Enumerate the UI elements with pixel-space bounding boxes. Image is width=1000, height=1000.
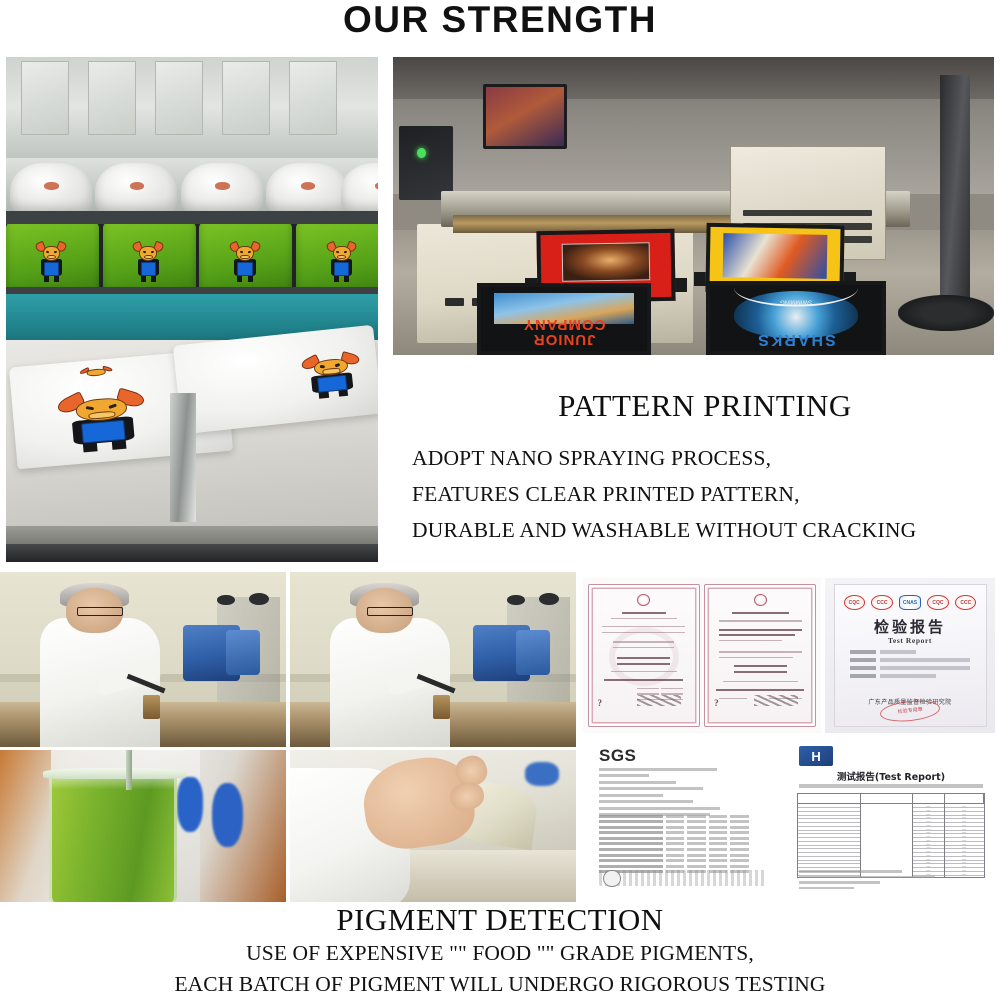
green-pallet [199, 222, 292, 296]
inspection-report-title-cn: 检验报告 [835, 616, 986, 637]
support-pillar [940, 75, 970, 307]
white-shirt [10, 163, 92, 214]
photo-uv-flatbed-printer: JUNIOR COMPANY SWIMMING SHARKS [393, 57, 994, 355]
wall-panel [155, 61, 203, 134]
wall-panel [88, 61, 136, 134]
inspection-table [6, 340, 378, 562]
white-shirt [95, 163, 177, 214]
report-meta-block [599, 768, 767, 820]
wall-background [6, 57, 378, 168]
green-pallet [6, 222, 99, 296]
sample-vial [143, 695, 160, 720]
printer-monitor[interactable] [483, 84, 567, 150]
h-report-title: 测试报告(Test Report) [787, 769, 995, 783]
table-row [599, 865, 767, 868]
table-column-method [861, 804, 913, 876]
table-column-conclusion: ———— ———— ———— ———— ——— [945, 804, 984, 876]
photo-lab-technician-left [0, 572, 286, 747]
glass-beaker [49, 771, 178, 902]
h-results-table: ———— ———— ———— ———— ——— ———— ———— ———— —… [797, 793, 984, 877]
pigment-detection-text-block: PIGMENT DETECTION USE OF EXPENSIVE "" FO… [0, 902, 1000, 1000]
table-column-result: ———— ———— ———— ———— ——— [913, 804, 944, 876]
stirring-rod [126, 750, 132, 790]
certification-logo-row: CQC CCC CNAS CQC CCC [844, 594, 977, 612]
conveyor-bar [6, 211, 378, 224]
table-row [599, 837, 767, 840]
document-inspection-report: CQC CCC CNAS CQC CCC 检验报告 Test Report 广东… [825, 578, 995, 733]
certificate-english: ? [704, 584, 816, 727]
table-row [599, 815, 767, 818]
bull-logo-small [79, 366, 115, 385]
page-title: OUR STRENGTH [0, 0, 1000, 44]
blue-mixer-unit [516, 630, 550, 676]
pattern-printing-text-block: PATTERN PRINTING ADOPT NANO SPRAYING PRO… [398, 388, 998, 548]
garment-artwork [722, 233, 827, 278]
report-meta-line [799, 784, 982, 788]
table-row [599, 854, 767, 857]
bull-mascot-print [132, 243, 164, 283]
ccc-logo-icon: CCC [955, 595, 976, 610]
pattern-printing-line-2: FEATURES CLEAR PRINTED PATTERN, [398, 476, 998, 512]
garment-black-sharks: SWIMMING SHARKS [706, 281, 886, 356]
bull-mascot-print [36, 243, 68, 283]
photo-screen-printing-line [6, 57, 378, 562]
certificate-emblem-icon [754, 594, 767, 607]
white-shirt [341, 163, 378, 214]
background-blue-object [525, 762, 559, 786]
sample-vial [433, 695, 450, 720]
pattern-printing-line-3: DURABLE AND WASHABLE WITHOUT CRACKING [398, 512, 998, 548]
report-field-row [850, 674, 971, 678]
wall-panel [289, 61, 337, 134]
report-page: CQC CCC CNAS CQC CCC 检验报告 Test Report 广东… [834, 584, 987, 727]
signature [637, 695, 681, 706]
green-pallet [296, 222, 378, 296]
inspection-report-title-en: Test Report [835, 636, 986, 645]
glasses-icon [77, 607, 123, 616]
table-row [599, 848, 767, 851]
table-row [599, 859, 767, 862]
report-field-row [850, 666, 971, 670]
bull-mascot-print [300, 353, 364, 402]
document-iso-certificate-pair: ? ? [583, 578, 821, 733]
certificate-mark-icon: ? [598, 698, 607, 715]
report-field-row [850, 658, 971, 662]
photo-fabric-inspection [290, 750, 576, 902]
garment-black-junior-company: JUNIOR COMPANY [477, 283, 651, 355]
table-row [599, 831, 767, 834]
pillar-base [898, 295, 994, 331]
garment-label-sharks: SHARKS [727, 330, 865, 348]
sgs-logo: SGS [599, 746, 636, 766]
bull-mascot-print [229, 243, 261, 283]
table-row [599, 826, 767, 829]
bull-mascot-print [55, 390, 150, 455]
table-base [6, 544, 378, 562]
printed-shirt-large [173, 325, 378, 434]
bull-mascot-print [326, 243, 358, 283]
certificate-emblem-icon [637, 594, 650, 607]
report-notes [799, 870, 982, 892]
signature [754, 695, 798, 706]
table-row [599, 820, 767, 823]
lab-scene [290, 572, 576, 747]
glasses-icon [367, 607, 413, 616]
report-footer-band [599, 870, 767, 886]
photo-green-pigment-beaker [0, 750, 286, 902]
report-field-list [850, 650, 971, 682]
cqc-logo-icon: CQC [927, 595, 948, 610]
lab-scene [0, 572, 286, 747]
background-blue-object [212, 783, 243, 847]
poster-root: OUR STRENGTH [0, 0, 1000, 1000]
beaker-lip [43, 768, 186, 779]
wall-panel [222, 61, 270, 134]
certificate-chinese: ? [588, 584, 700, 727]
pattern-printing-line-1: ADOPT NANO SPRAYING PROCESS, [398, 440, 998, 476]
white-shirt [181, 163, 263, 214]
table-header-row [798, 794, 983, 804]
upper-conveyor-row [6, 158, 378, 219]
photo-lab-technician-right [290, 572, 576, 747]
green-pallet [103, 222, 196, 296]
table-body: ———— ———— ———— ———— ——— ———— ———— ———— —… [798, 804, 983, 876]
table-row [599, 842, 767, 845]
pigment-detection-heading: PIGMENT DETECTION [0, 902, 1000, 938]
cqc-logo-icon: CQC [844, 595, 865, 610]
h-brand-logo: H [799, 746, 832, 765]
pattern-printing-heading: PATTERN PRINTING [398, 388, 998, 424]
garment-artwork [562, 242, 651, 282]
certificate-mark-icon: ? [714, 698, 723, 715]
table-column-item [798, 804, 861, 876]
cnas-logo-icon: CNAS [899, 595, 920, 610]
pigment-detection-line-1: USE OF EXPENSIVE "" FOOD "" GRADE PIGMEN… [0, 938, 1000, 969]
pigment-detection-line-2: EACH BATCH OF PIGMENT WILL UNDERGO RIGOR… [0, 969, 1000, 1000]
sgs-results-table [599, 815, 767, 877]
wall-panel [21, 61, 69, 134]
ccc-logo-icon: CCC [871, 595, 892, 610]
background-blue-object [177, 777, 203, 832]
power-led-icon [417, 148, 426, 158]
control-box[interactable] [399, 126, 453, 201]
document-sgs-test-report: SGS [583, 740, 783, 902]
blue-mixer-unit [226, 630, 260, 676]
document-h-test-report: H 测试报告(Test Report) ———— ———— [787, 740, 995, 902]
garment-label-junior-company: JUNIOR COMPANY [491, 317, 637, 347]
white-shirt [266, 163, 348, 214]
report-field-row [850, 650, 971, 654]
metal-rail [170, 393, 196, 522]
